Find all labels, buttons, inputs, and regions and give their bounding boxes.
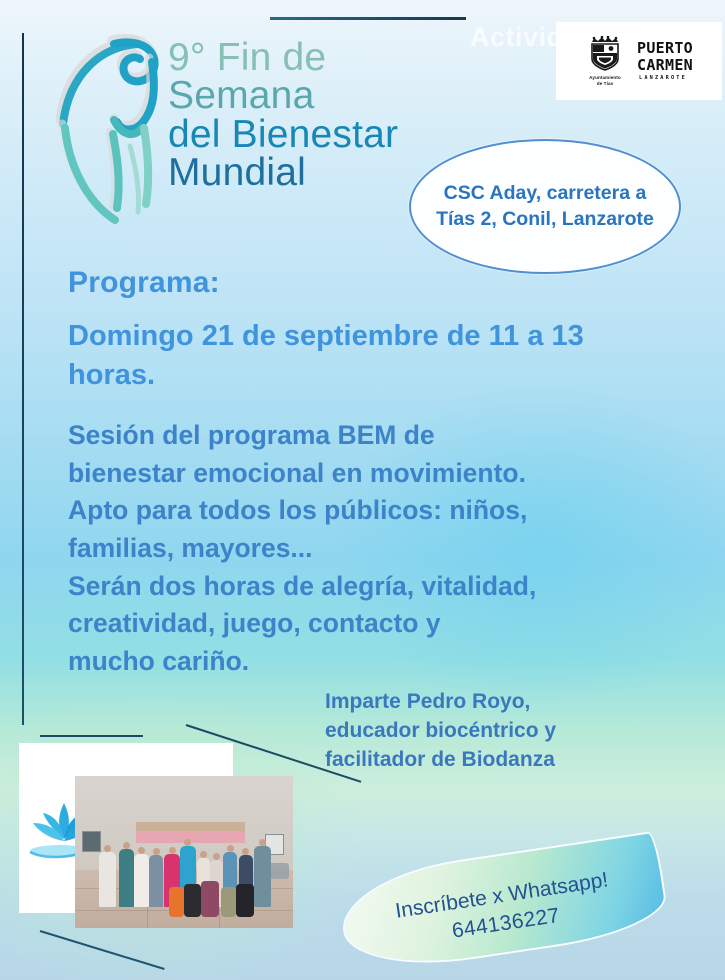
photo-person-head bbox=[123, 842, 130, 849]
crest-caption-line-2: de Tías bbox=[597, 81, 614, 86]
program-body-line-7: mucho cariño. bbox=[68, 643, 676, 681]
photo-person-seated bbox=[201, 881, 218, 917]
venue-address: CSC Aday, carretera a Tías 2, Conil, Lan… bbox=[411, 181, 679, 232]
photo-person-seated bbox=[236, 884, 253, 917]
facilitator-line-1: Imparte Pedro Royo, bbox=[325, 688, 675, 717]
photo-person bbox=[149, 855, 163, 907]
photo-person bbox=[119, 849, 134, 907]
poster-canvas: 9° Fin de Semana del Bienestar Mundial A… bbox=[0, 0, 725, 980]
photo-person-head bbox=[169, 847, 176, 854]
event-title-line-3: del Bienestar bbox=[168, 115, 478, 155]
venue-callout: CSC Aday, carretera a Tías 2, Conil, Lan… bbox=[409, 139, 681, 274]
decorative-line-photo-diagonal-bottom bbox=[40, 930, 165, 970]
coat-of-arms-icon: Ayuntamiento de Tías bbox=[585, 36, 625, 86]
decorative-line-top bbox=[270, 17, 466, 20]
event-title-line-1: 9° Fin de bbox=[168, 38, 478, 78]
program-body-line-5: Serán dos horas de alegría, vitalidad, bbox=[68, 568, 676, 606]
whatsapp-signup-banner[interactable]: Inscríbete x Whatsapp! 644136227 bbox=[338, 833, 669, 975]
photo-person-seated bbox=[169, 887, 184, 917]
brushstroke-figure-icon bbox=[52, 28, 182, 233]
puerto-carmen-line-3: LANZAROTE bbox=[639, 75, 687, 81]
crest-caption-line-1: Ayuntamiento bbox=[589, 75, 621, 80]
facilitator-info: Imparte Pedro Royo, educador biocéntrico… bbox=[325, 688, 675, 775]
photo-person-head bbox=[153, 848, 160, 855]
decorative-line-photo-top bbox=[40, 735, 143, 737]
program-body-line-1: Sesión del programa BEM de bbox=[68, 417, 676, 455]
photo-person bbox=[134, 854, 149, 907]
puerto-carmen-logo: PUERTO CARMEN LANZAROTE bbox=[637, 41, 693, 81]
puerto-carmen-line-1: PUERTO bbox=[637, 41, 693, 56]
facilitator-line-3: facilitador de Biodanza bbox=[325, 746, 675, 775]
photo-banner-top bbox=[136, 822, 245, 831]
program-heading: Programa: bbox=[68, 266, 220, 300]
photo-person-seated bbox=[184, 884, 201, 917]
program-description: Sesión del programa BEM de bienestar emo… bbox=[68, 417, 676, 680]
event-title-line-2: Semana bbox=[168, 76, 478, 116]
program-body-line-3: Apto para todos los públicos: niños, bbox=[68, 492, 676, 530]
institution-logos: Ayuntamiento de Tías PUERTO CARMEN LANZA… bbox=[556, 22, 722, 100]
group-photo bbox=[75, 776, 293, 928]
photo-person bbox=[99, 852, 116, 907]
program-body-line-6: creatividad, juego, contacto y bbox=[68, 605, 676, 643]
program-body-line-4: familias, mayores... bbox=[68, 530, 676, 568]
whatsapp-signup-text: Inscríbete x Whatsapp! 644136227 bbox=[342, 859, 667, 961]
photo-person-head bbox=[138, 847, 145, 854]
decorative-line-left-vertical bbox=[22, 33, 24, 725]
program-date: Domingo 21 de septiembre de 11 a 13 hora… bbox=[68, 317, 668, 394]
photo-wall-frame bbox=[82, 831, 102, 852]
puerto-carmen-line-2: CARMEN bbox=[637, 58, 693, 73]
program-body-line-2: bienestar emocional en movimiento. bbox=[68, 455, 676, 493]
photo-person-head bbox=[259, 839, 266, 846]
photo-person bbox=[254, 846, 271, 907]
photo-person-head bbox=[227, 845, 234, 852]
photo-person-seated bbox=[221, 887, 236, 917]
photo-person-head bbox=[213, 853, 220, 860]
crest-caption: Ayuntamiento de Tías bbox=[589, 75, 621, 86]
facilitator-line-2: educador biocéntrico y bbox=[325, 717, 675, 746]
